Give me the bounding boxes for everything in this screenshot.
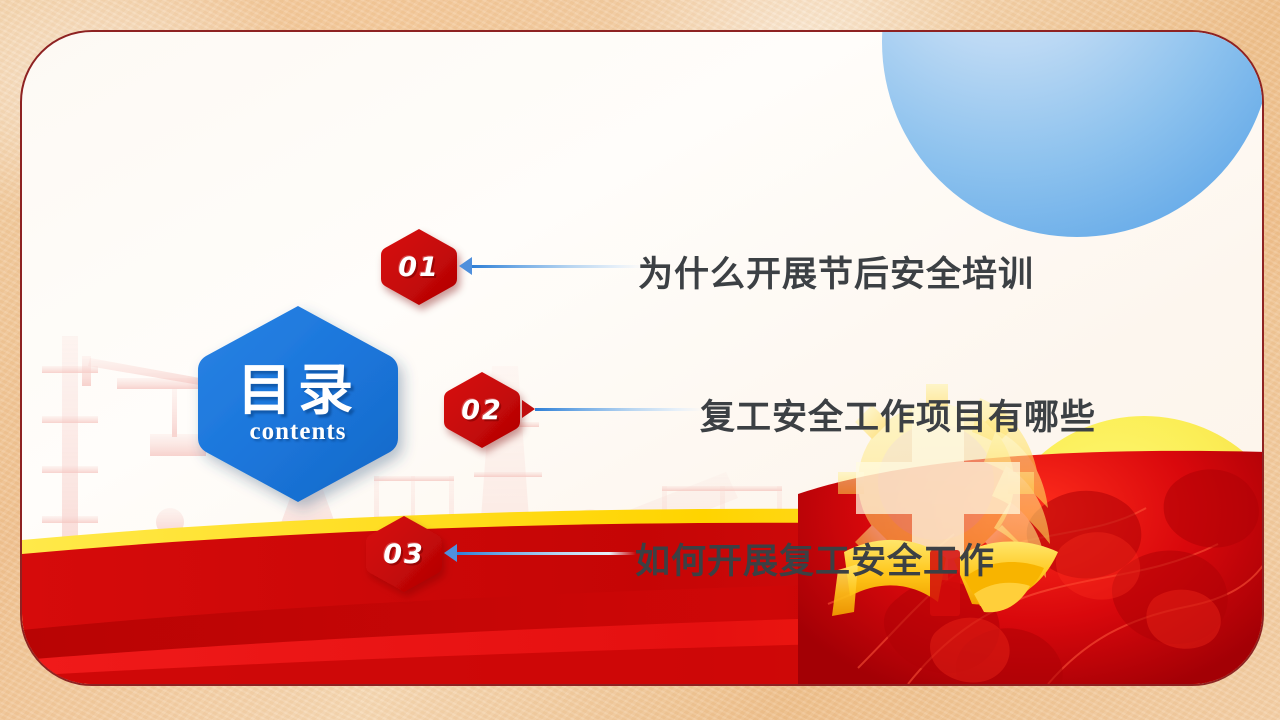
item-label-03[interactable]: 如何开展复工安全工作 — [635, 533, 995, 584]
contents-hexagon: 目录 contents — [194, 304, 402, 504]
item-badge-01[interactable]: 01 — [377, 227, 461, 307]
table-of-contents: 目录 contents — [22, 32, 1262, 684]
contents-title-en: contents — [250, 418, 347, 446]
connector-line-01 — [459, 256, 644, 276]
item-number-03: 03 — [362, 514, 446, 594]
connector-line-02 — [522, 399, 702, 419]
content-card: 目录 contents — [20, 30, 1264, 686]
contents-title-cn: 目录 — [237, 362, 359, 418]
arrow-left-icon-03 — [444, 544, 457, 562]
item-number-02: 02 — [440, 370, 524, 450]
arrow-left-icon-01 — [459, 257, 472, 275]
connector-stroke-02 — [535, 408, 702, 411]
connector-stroke-03 — [457, 552, 636, 555]
arrow-right-icon-02 — [522, 400, 535, 418]
slide-canvas: 目录 contents — [0, 0, 1280, 720]
item-number-01: 01 — [377, 227, 461, 307]
item-badge-02[interactable]: 02 — [440, 370, 524, 450]
item-label-02[interactable]: 复工安全工作项目有哪些 — [700, 389, 1096, 440]
connector-stroke-01 — [472, 265, 644, 268]
connector-line-03 — [444, 543, 636, 563]
item-label-01[interactable]: 为什么开展节后安全培训 — [638, 246, 1034, 297]
item-badge-03[interactable]: 03 — [362, 514, 446, 594]
